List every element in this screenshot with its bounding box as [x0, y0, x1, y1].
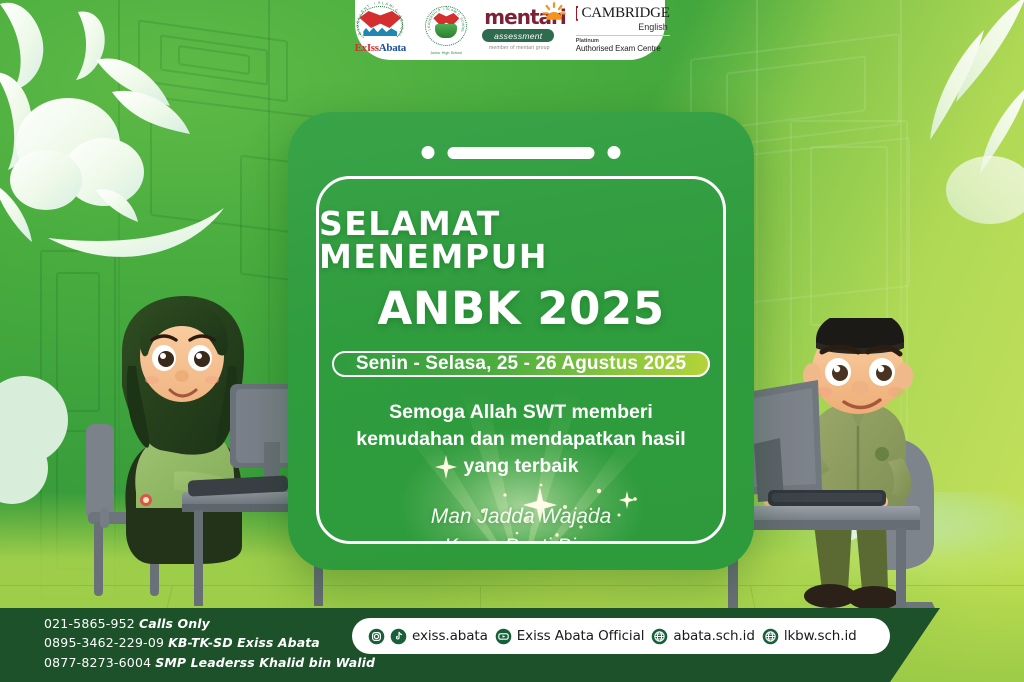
blessing-text: Semoga Allah SWT memberi kemudahan dan m…	[336, 399, 706, 480]
exiss-wordmark: ExIss	[355, 42, 379, 54]
contact-label: KB-TK-SD Exiss Abata	[168, 635, 320, 650]
contact-row: 021-5865-952 Calls Only	[44, 614, 375, 633]
date-badge: Senin - Selasa, 25 - 26 Agustus 2025	[332, 351, 710, 377]
social-handle: Exiss Abata Official	[517, 628, 645, 644]
social-handle: exiss.abata	[412, 628, 488, 644]
sun-icon	[542, 2, 566, 21]
sensor-dot-icon	[608, 146, 621, 159]
globe-icon[interactable]	[651, 628, 668, 645]
contact-number: 021-5865-952	[44, 616, 135, 631]
social-website-abata[interactable]: abata.sch.id	[651, 628, 754, 645]
mentari-assessment-logo: mentari assessment member of mentari gro…	[482, 3, 565, 53]
social-website-lkbw[interactable]: lkbw.sch.id	[762, 628, 857, 645]
social-instagram-tiktok[interactable]: exiss.abata	[368, 628, 488, 645]
tiktok-icon[interactable]	[390, 628, 407, 645]
lkbw-logo: Junior High School LEADERSHIP ISLAMIC SC…	[420, 5, 472, 53]
mentari-footnote: member of mentari group	[482, 45, 556, 51]
social-handle: lkbw.sch.id	[784, 628, 857, 644]
blessing-line-2: kemudahan dan mendapatkan hasil	[336, 426, 706, 453]
contact-list: 021-5865-952 Calls Only 0895-3462-229-09…	[44, 614, 375, 672]
cambridge-wordmark: CAMBRIDGE	[582, 6, 670, 21]
motto-line-1: Man Jadda Wajada	[431, 502, 612, 532]
announcement-card: SELAMAT MENEMPUH ANBK 2025 Senin - Selas…	[288, 112, 754, 570]
camera-dot-icon	[422, 146, 435, 159]
exiss-abata-logo: ExIssAbata EXCELLENT ISLAMIC SCHOOL	[350, 5, 410, 53]
motto-line-2: Kamu Pasti Bisa	[431, 532, 612, 544]
poster-canvas: ExIssAbata EXCELLENT ISLAMIC SCHOOL Juni…	[0, 0, 1024, 682]
social-bar: exiss.abata Exiss Abata Official abata.s…	[352, 618, 890, 654]
sparkle-icon	[619, 491, 635, 509]
contact-label: Calls Only	[139, 616, 210, 631]
abata-wordmark: Abata	[379, 42, 406, 54]
social-handle: abata.sch.id	[673, 628, 754, 644]
lkbw-sub-text: Junior High School	[416, 51, 476, 55]
blessing-line-3: yang terbaik	[336, 453, 706, 480]
speaker-grille-icon	[448, 147, 595, 159]
decorative-swoosh-left	[0, 0, 322, 274]
card-screen: SELAMAT MENEMPUH ANBK 2025 Senin - Selas…	[316, 176, 726, 544]
contact-number: 0877-8273-6004	[44, 655, 151, 670]
mentari-assessment-pill: assessment	[482, 29, 554, 42]
blessing-line-1: Semoga Allah SWT memberi	[336, 399, 706, 426]
contact-row: 0895-3462-229-09 KB-TK-SD Exiss Abata	[44, 633, 375, 652]
social-youtube[interactable]: Exiss Abata Official	[495, 628, 645, 645]
exiss-abata-crest-icon: ExIssAbata EXCELLENT ISLAMIC SCHOOL	[350, 5, 410, 53]
headline-main: ANBK 2025	[377, 286, 664, 331]
contact-row: 0877-8273-6004 SMP Leaderss Khalid bin W…	[44, 653, 375, 672]
motto-text: Man Jadda Wajada Kamu Pasti Bisa	[431, 502, 612, 544]
cambridge-role: Authorised Exam Centre	[576, 44, 670, 53]
cambridge-english-logo: CAMBRIDGE English Platinum Authorised Ex…	[576, 1, 670, 53]
decorative-swoosh-right	[784, 0, 1024, 240]
cambridge-divider	[576, 35, 670, 36]
contact-number: 0895-3462-229-09	[44, 635, 164, 650]
partner-logo-bar: ExIssAbata EXCELLENT ISLAMIC SCHOOL Juni…	[355, 0, 665, 60]
cambridge-sub: English	[576, 22, 668, 32]
headline-top: SELAMAT MENEMPUH	[319, 207, 723, 273]
device-speaker-row	[422, 146, 621, 159]
globe-icon[interactable]	[762, 628, 779, 645]
lkbw-crest-icon: Junior High School LEADERSHIP ISLAMIC SC…	[420, 5, 472, 53]
contact-label: SMP Leaderss Khalid bin Walid	[155, 655, 375, 670]
youtube-icon[interactable]	[495, 628, 512, 645]
cambridge-shield-icon	[576, 6, 578, 21]
